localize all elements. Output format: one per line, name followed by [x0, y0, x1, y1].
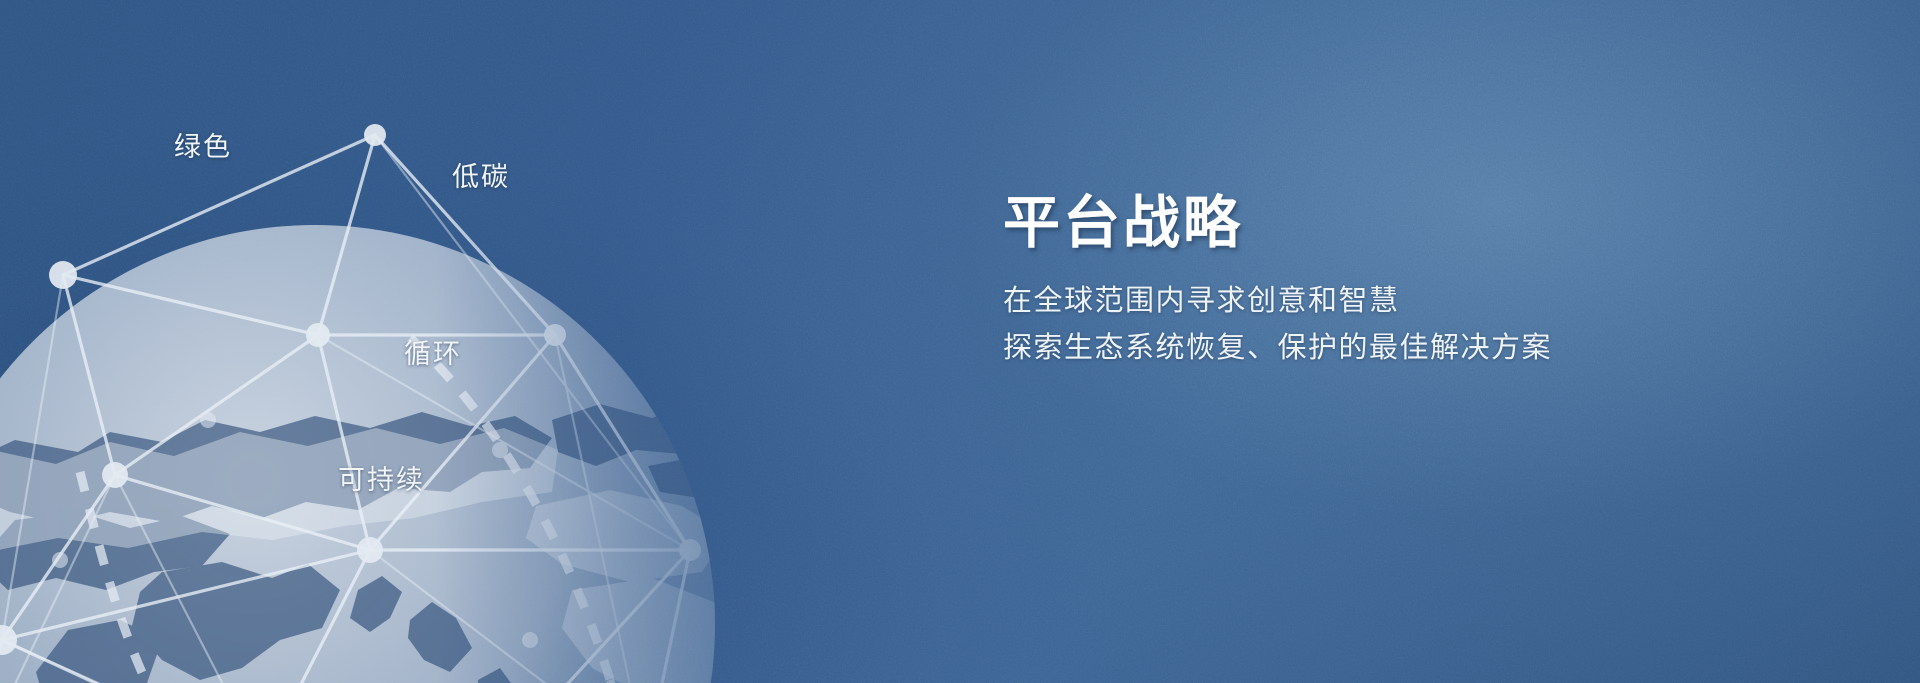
subtitle-line-2: 探索生态系统恢复、保护的最佳解决方案 — [1003, 325, 1703, 372]
hero-subtitle: 在全球范围内寻求创意和智慧 探索生态系统恢复、保护的最佳解决方案 — [1003, 278, 1703, 372]
hero-banner: 绿色 低碳 循环 可持续 平台战略 在全球范围内寻求创意和智慧 探索生态系统恢复… — [0, 0, 1920, 683]
globe-graphic — [0, 120, 820, 683]
globe-label-circular: 循环 — [404, 332, 462, 371]
globe-label-low-carbon: 低碳 — [452, 155, 510, 194]
hero-copy: 平台战略 在全球范围内寻求创意和智慧 探索生态系统恢复、保护的最佳解决方案 — [1003, 192, 1703, 372]
globe-label-sustainable: 可持续 — [338, 458, 425, 497]
page-title: 平台战略 — [1003, 192, 1703, 256]
globe-label-green: 绿色 — [174, 125, 232, 164]
subtitle-line-1: 在全球范围内寻求创意和智慧 — [1003, 278, 1703, 325]
